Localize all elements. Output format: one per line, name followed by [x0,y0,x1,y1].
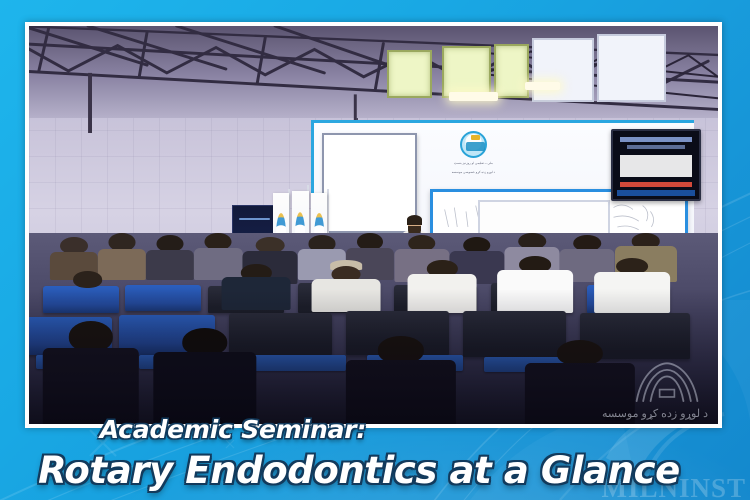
tv-slide-subtitle-bar [627,145,685,149]
tv-slide-highlight-bar [620,182,692,187]
window [387,50,432,98]
audience-member [153,328,256,424]
chair [125,285,201,312]
chair-seat [249,355,345,370]
window [532,38,594,102]
stage-logo-caption-line2: د لوړو زده کړو خصوصي موسسه [452,170,495,175]
window [494,44,528,98]
institution-logo: ملي ــ تعليمي او روزنيز بنسټ د لوړو زده … [432,131,515,187]
seminar-title-text: Rotary Endodontics at a Glance [0,449,734,492]
audience-member [594,258,670,321]
seated-audience [29,233,718,424]
photo-watermark-logo-icon [630,360,704,406]
tv-slide-footer [617,190,696,196]
stage-logo-caption-line1: ملي ــ تعليمي او روزنيز بنسټ [454,161,493,166]
seminar-kicker-text: Academic Seminar: [0,415,608,444]
audience-member [146,235,194,279]
tv-slide-figure [620,155,692,178]
ceiling-light-icon [449,92,497,102]
institution-logo-icon [460,131,487,158]
photo-watermark-text: د لوړو زده کړو موسسه [602,407,708,420]
window [442,46,490,98]
tv-slide [620,137,692,191]
audience-member [346,336,456,424]
tv-slide-title-bar [620,137,692,142]
wall-mounted-tv [611,129,701,201]
audience-member [43,321,139,424]
seminar-photo: ملي ــ تعليمي او روزنيز بنسټ د لوړو زده … [29,26,718,424]
audience-member [222,264,291,317]
photo-frame: ملي ــ تعليمي او روزنيز بنسټ د لوړو زده … [25,22,722,428]
poster-canvas: MILNINST [0,0,750,500]
window [597,34,666,102]
audience-member [57,271,119,321]
ceiling-light-icon [525,82,559,90]
